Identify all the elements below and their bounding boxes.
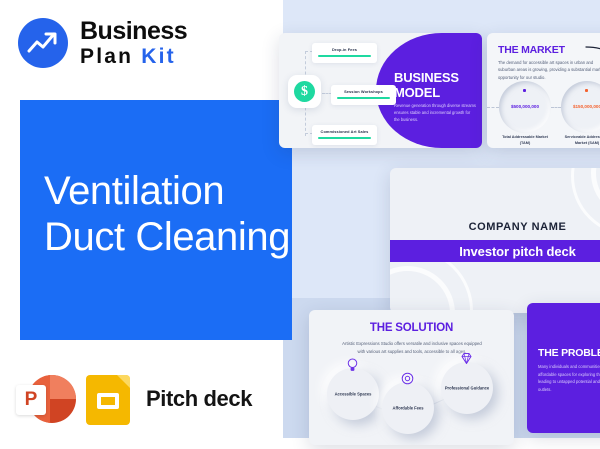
- powerpoint-letter: P: [16, 385, 46, 415]
- business-model-item-label: Drop-in Fees: [318, 47, 371, 52]
- business-model-item-underline: [337, 97, 390, 99]
- problem-body: Many individuals and communities lack ac…: [538, 363, 600, 393]
- page-title-line2: Duct Cleaning: [44, 214, 290, 260]
- brand-logo-text: Business Plan Kit: [80, 19, 187, 67]
- dollar-glyph: $: [294, 81, 315, 102]
- brand-logo: Business Plan Kit: [18, 18, 187, 68]
- google-slides-screen: [97, 393, 119, 409]
- slide-thumbnail-investor-cover[interactable]: COMPANY NAME Investor pitch deck: [390, 168, 600, 313]
- page-title-line1: Ventilation: [44, 168, 290, 214]
- business-model-item: Session Workshops: [331, 85, 396, 105]
- circle-target-icon: [401, 372, 414, 390]
- market-metric-value: $150,000,000: [561, 104, 600, 109]
- format-badges: P Pitch deck: [16, 371, 252, 427]
- curved-arrow-icon: [585, 45, 600, 80]
- business-model-item-label: Session Workshops: [337, 89, 390, 94]
- investor-company-name: COMPANY NAME: [390, 221, 600, 233]
- format-label: Pitch deck: [146, 386, 252, 412]
- brand-logo-plan: Plan: [80, 45, 133, 68]
- market-metric-caption: Serviceable Addressable Market (SAM): [559, 135, 600, 146]
- trend-arrow-icon: [18, 18, 68, 68]
- solution-node-label: Affordable Fees: [382, 405, 434, 411]
- business-model-item-label: Commissioned Art Sales: [318, 129, 371, 134]
- market-dash-left: [487, 107, 499, 108]
- slide-thumbnail-business-model[interactable]: $ Drop-in Fees Session Workshops Commiss…: [279, 33, 482, 148]
- lightbulb-icon: [346, 358, 359, 378]
- slide-thumbnail-problem[interactable]: THE PROBLEM Many individuals and communi…: [527, 303, 600, 433]
- solution-node-label: Professional Guidance: [441, 385, 493, 391]
- market-metric-caption: Total Addressable Market (TAM): [497, 135, 553, 146]
- page-title: Ventilation Duct Cleaning: [44, 168, 290, 261]
- market-metric-dot: [523, 89, 526, 92]
- powerpoint-icon: P: [16, 371, 72, 427]
- google-slides-icon: [86, 373, 130, 425]
- investor-subtitle: Investor pitch deck: [459, 244, 576, 259]
- brand-logo-kit: Kit: [141, 45, 176, 68]
- diamond-icon: [460, 352, 473, 370]
- solution-node-label: Accessible Spaces: [327, 391, 379, 397]
- slide-thumbnail-solution[interactable]: THE SOLUTION Artistic Expressions Studio…: [309, 310, 514, 445]
- business-model-body: Revenue generation through diverse strea…: [394, 103, 476, 124]
- brand-logo-line1: Business: [80, 19, 187, 44]
- dollar-icon: $: [288, 75, 321, 108]
- problem-title: THE PROBLEM: [538, 347, 600, 359]
- market-metric-dot: [585, 89, 588, 92]
- market-dash-mid: [551, 107, 561, 108]
- business-model-item-underline: [318, 55, 371, 57]
- investor-subtitle-band: Investor pitch deck: [390, 240, 600, 262]
- slide-thumbnail-market[interactable]: THE MARKET The demand for accessible art…: [487, 33, 600, 148]
- solution-title: THE SOLUTION: [309, 322, 514, 334]
- business-model-item-underline: [318, 137, 371, 139]
- brand-logo-line2: Plan Kit: [80, 46, 187, 67]
- market-title: THE MARKET: [498, 44, 565, 56]
- business-model-item: Drop-in Fees: [312, 43, 377, 63]
- business-model-title: BUSINESS MODEL: [394, 71, 480, 100]
- business-model-item: Commissioned Art Sales: [312, 125, 377, 145]
- poster-canvas: Business Plan Kit Ventilation Duct Clean…: [0, 0, 600, 449]
- market-metric-value: $500,000,000: [499, 104, 551, 109]
